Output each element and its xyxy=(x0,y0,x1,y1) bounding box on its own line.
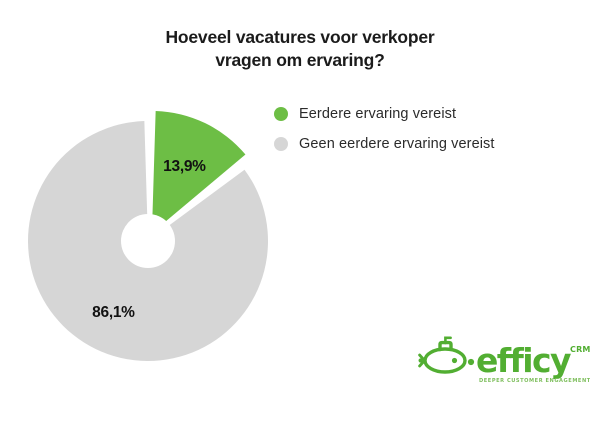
efficy-tagline: DEEPER CUSTOMER ENGAGEMENT xyxy=(479,378,590,384)
page-title-line-1: Hoeveel vacatures voor verkoper xyxy=(0,26,600,49)
page-title: Hoeveel vacatures voor verkoper vragen o… xyxy=(0,26,600,72)
legend-label-geen-eerdere-ervaring: Geen eerdere ervaring vereist xyxy=(299,136,495,152)
chart-legend: Eerdere ervaring vereist Geen eerdere er… xyxy=(274,99,584,159)
slice-label-geen-eerdere-ervaring: 86,1% xyxy=(92,304,135,321)
circle-marker-gray-icon xyxy=(274,137,288,151)
donut-chart: 13,9% 86,1% xyxy=(18,101,288,391)
efficy-crm-superscript: CRM xyxy=(570,345,590,354)
page-title-line-2: vragen om ervaring? xyxy=(0,49,600,72)
efficy-wordmark: efficy xyxy=(476,341,571,380)
donut-hole xyxy=(121,214,175,268)
legend-item-geen-eerdere-ervaring[interactable]: Geen eerdere ervaring vereist xyxy=(274,129,584,159)
efficy-logo-svg: efficy CRM DEEPER CUSTOMER ENGAGEMENT xyxy=(418,336,590,394)
slice-label-eerdere-ervaring: 13,9% xyxy=(163,158,206,175)
circle-marker-green-icon xyxy=(274,107,288,121)
efficy-submarine-icon xyxy=(419,338,475,372)
efficy-logo[interactable]: efficy CRM DEEPER CUSTOMER ENGAGEMENT xyxy=(418,336,590,394)
legend-label-eerdere-ervaring: Eerdere ervaring vereist xyxy=(299,106,456,122)
donut-chart-svg: 13,9% 86,1% xyxy=(18,101,288,391)
legend-item-eerdere-ervaring[interactable]: Eerdere ervaring vereist xyxy=(274,99,584,129)
